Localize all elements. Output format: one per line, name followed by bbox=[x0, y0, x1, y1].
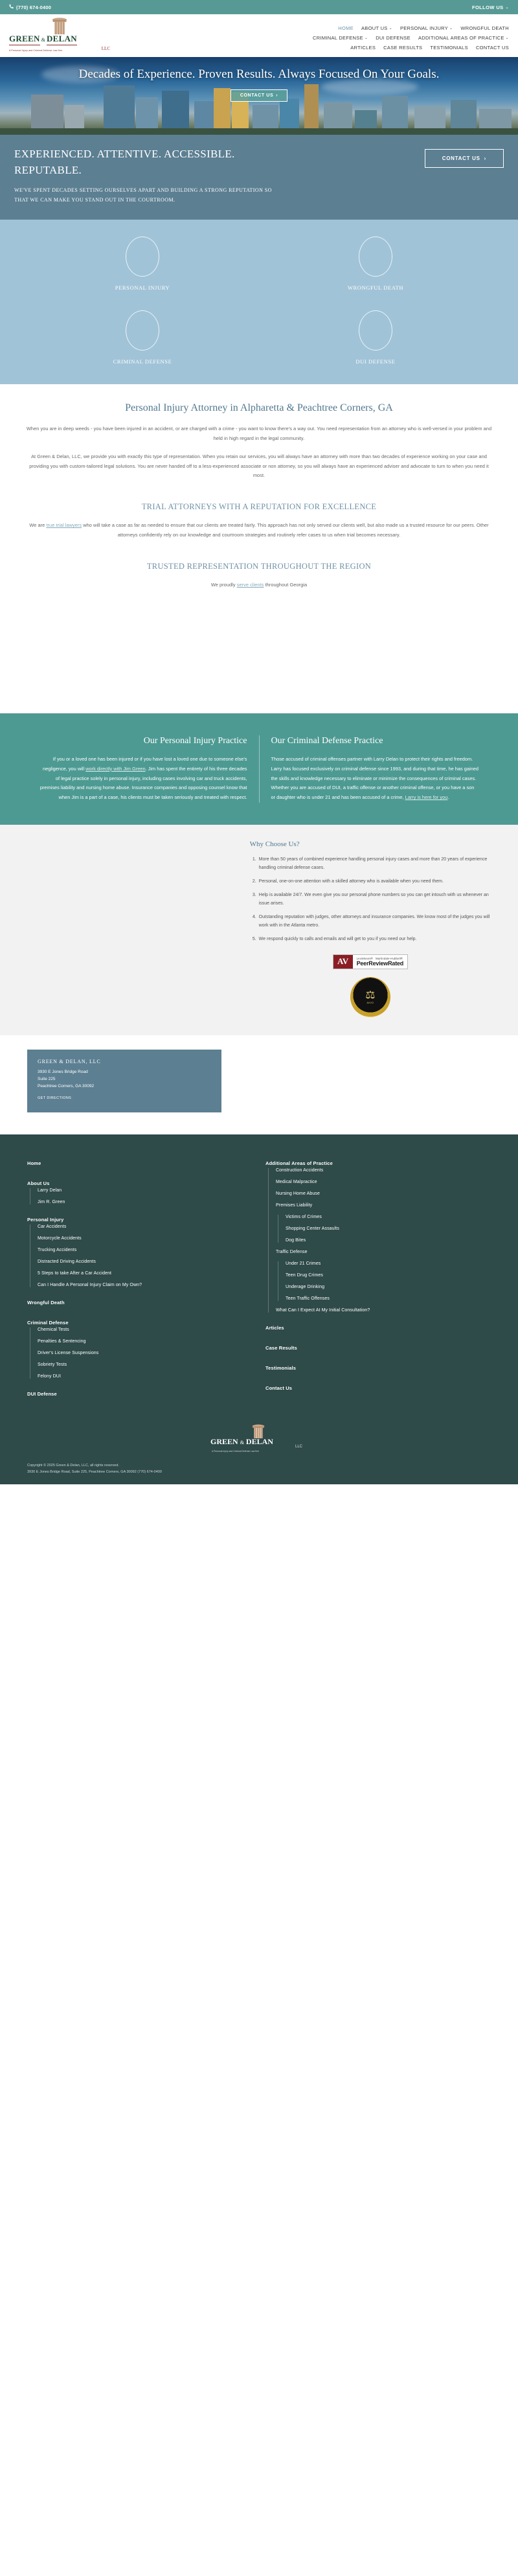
footer-group-additional-areas: Additional Areas of Practice Constructio… bbox=[265, 1156, 478, 1313]
why-choose-us-section: Why Choose Us? More than 50 years of com… bbox=[0, 825, 518, 1035]
logo-text-delan: DELAN bbox=[47, 34, 77, 45]
nav-item-home[interactable]: HOME bbox=[338, 25, 354, 31]
follow-us-menu[interactable]: FOLLOW US ⌄ bbox=[472, 5, 509, 10]
utility-topbar: (770) 674-0400 FOLLOW US ⌄ bbox=[0, 0, 518, 14]
footer-logo-amp: & bbox=[240, 1440, 244, 1445]
experienced-cta-label: CONTACT US bbox=[442, 155, 480, 161]
footer-link-about-us[interactable]: About Us bbox=[27, 1180, 50, 1186]
chevron-down-icon: ⌄ bbox=[449, 26, 453, 30]
scales-of-justice-icon: ⚖ bbox=[365, 989, 375, 1000]
nav-item-additional-areas[interactable]: ADDITIONAL AREAS OF PRACTICE⌄ bbox=[418, 35, 509, 41]
av-text-block: LexisNexis® Martindale-Hubbell® PeerRevi… bbox=[353, 955, 408, 969]
trial-attorneys-paragraph: We are true trial lawyers who will take … bbox=[26, 521, 492, 540]
personal-injury-practice-column: Our Personal Injury Practice If you or a… bbox=[27, 735, 260, 803]
experienced-text: EXPERIENCED. ATTENTIVE. ACCESSIBLE. REPU… bbox=[14, 146, 286, 205]
office-address-card: GREEN & DELAN, LLC 3930 E Jones Bridge R… bbox=[27, 1050, 221, 1112]
text-pre: Those accused of criminal offenses partn… bbox=[271, 756, 479, 800]
footer-link-distracted-driving[interactable]: Distracted Driving Accidents bbox=[38, 1259, 240, 1264]
section-heading-trusted-representation: TRUSTED REPRESENTATION THROUGHOUT THE RE… bbox=[26, 562, 492, 571]
footer-group-contact-us: Contact Us bbox=[265, 1381, 478, 1393]
footer-sublist: Car Accidents Motorcycle Accidents Truck… bbox=[30, 1225, 240, 1287]
footer-logo-tagline: A Personal Injury and Criminal Defense L… bbox=[212, 1450, 259, 1453]
footer-group-home: Home bbox=[27, 1156, 240, 1168]
footer-link-handle-claim-on-my-own[interactable]: Can I Handle A Personal Injury Claim on … bbox=[38, 1283, 240, 1287]
copyright-block: Copyright © 2025 Green & Delan, LLC, all… bbox=[0, 1463, 518, 1485]
logo-tagline: A Personal Injury and Criminal Defense L… bbox=[9, 49, 62, 52]
phone-icon bbox=[9, 4, 14, 10]
text-post: who will take a case as far as needed to… bbox=[82, 522, 489, 537]
logo-text-llc: LLC bbox=[102, 46, 110, 51]
footer-link-larry-delan[interactable]: Larry Delan bbox=[38, 1188, 240, 1193]
criminal-defense-practice-column: Our Criminal Defense Practice Those accu… bbox=[260, 735, 491, 803]
footer-sublist-premises: Victims of Crimes Shopping Center Assaul… bbox=[278, 1215, 478, 1243]
footer-sublist-traffic: Under 21 Crimes Teen Drug Crimes Underag… bbox=[278, 1261, 478, 1301]
nav-label: CONTACT US bbox=[476, 45, 509, 51]
trusted-representation-paragraph: We proudly serve clients throughout Geor… bbox=[26, 581, 492, 590]
footer-link-articles[interactable]: Articles bbox=[265, 1325, 284, 1331]
footer-logo-band: GREEN&DELAN LLC A Personal Injury and Cr… bbox=[0, 1424, 518, 1463]
footer-sublist: Larry Delan Jim R. Green bbox=[30, 1188, 240, 1204]
footer-group-personal-injury: Personal Injury Car Accidents Motorcycle… bbox=[27, 1213, 240, 1287]
footer-link-medical-malpractice[interactable]: Medical Malpractice bbox=[276, 1180, 478, 1184]
footer-link-criminal-defense[interactable]: Criminal Defense bbox=[27, 1320, 69, 1326]
nav-item-testimonials[interactable]: TESTIMONIALS bbox=[430, 45, 468, 51]
footer-link-jim-r-green[interactable]: Jim R. Green bbox=[38, 1200, 240, 1204]
list-item: More than 50 years of combined experienc… bbox=[258, 856, 491, 873]
follow-us-label: FOLLOW US bbox=[472, 5, 504, 10]
footer-link-felony-dui[interactable]: Felony DUI bbox=[38, 1374, 240, 1379]
chevron-down-icon: ⌄ bbox=[506, 5, 509, 10]
footer-link-motorcycle-accidents[interactable]: Motorcycle Accidents bbox=[38, 1236, 240, 1241]
footer-logo-llc: LLC bbox=[295, 1445, 302, 1449]
list-item: Outstanding reputation with judges, othe… bbox=[258, 914, 491, 930]
footer-link-5-steps-after-accident[interactable]: 5 Steps to take After a Car Accident bbox=[38, 1271, 240, 1276]
footer-link-sobriety-tests[interactable]: Sobriety Tests bbox=[38, 1363, 240, 1367]
copyright-line-1: Copyright © 2025 Green & Delan, LLC, all… bbox=[27, 1463, 491, 1469]
footer-link-car-accidents[interactable]: Car Accidents bbox=[38, 1225, 240, 1229]
nav-item-contact-us[interactable]: CONTACT US bbox=[476, 45, 509, 51]
nav-item-dui-defense[interactable]: DUI DEFENSE bbox=[376, 35, 411, 41]
address-line-2: Suite 225 bbox=[38, 1075, 211, 1083]
section-heading-trial-attorneys: TRIAL ATTORNEYS WITH A REPUTATION FOR EX… bbox=[26, 502, 492, 512]
experienced-body: WE'VE SPENT DECADES SETTING OURSELVES AP… bbox=[14, 186, 286, 205]
footer-group-dui-defense: DUI Defense bbox=[27, 1387, 240, 1399]
nav-label: ABOUT US bbox=[361, 25, 388, 31]
footer-sublist: Chemical Tests Penalties & Sentencing Dr… bbox=[30, 1328, 240, 1379]
nav-row-2: CRIMINAL DEFENSE⌄ DUI DEFENSE ADDITIONAL… bbox=[313, 35, 509, 41]
footer-column-right: Additional Areas of Practice Constructio… bbox=[253, 1156, 491, 1407]
chevron-right-icon: › bbox=[276, 93, 278, 98]
hero-content: Decades of Experience. Proven Results. A… bbox=[0, 57, 518, 135]
footer-link-case-results[interactable]: Case Results bbox=[265, 1345, 297, 1351]
footer-link-chemical-tests[interactable]: Chemical Tests bbox=[38, 1328, 240, 1332]
peer-review-rated-label: PeerReviewRated bbox=[357, 960, 404, 967]
footer-logo-green: GREEN bbox=[210, 1437, 238, 1446]
footer-link-wrongful-death[interactable]: Wrongful Death bbox=[27, 1300, 65, 1305]
practice-area-wrongful-death[interactable]: WRONGFUL DEATH bbox=[259, 236, 492, 291]
criminal-defense-practice-body: Those accused of criminal offenses partn… bbox=[271, 755, 480, 803]
practice-area-label: PERSONAL INJURY bbox=[115, 284, 170, 291]
footer-link-personal-injury[interactable]: Personal Injury bbox=[27, 1217, 63, 1223]
content-spacer bbox=[0, 616, 518, 713]
nav-item-criminal-defense[interactable]: CRIMINAL DEFENSE⌄ bbox=[313, 35, 368, 41]
experienced-contact-us-button[interactable]: CONTACT US › bbox=[425, 149, 504, 168]
footer-sublist: Construction Accidents Medical Malpracti… bbox=[268, 1168, 478, 1313]
link-work-with-jim-green[interactable]: work directly with Jim Green bbox=[85, 766, 145, 772]
nav-item-about-us[interactable]: ABOUT US⌄ bbox=[361, 25, 392, 31]
address-line-3: Peachtree Corners, GA 30092 bbox=[38, 1083, 211, 1090]
why-choose-us-title: Why Choose Us? bbox=[250, 840, 491, 848]
chevron-down-icon: ⌄ bbox=[506, 36, 509, 40]
site-logo[interactable]: GREEN&DELAN LLC A Personal Injury and Cr… bbox=[9, 17, 113, 53]
why-choose-us-list: More than 50 years of combined experienc… bbox=[258, 856, 491, 944]
nav-label: DUI DEFENSE bbox=[376, 35, 411, 41]
nav-item-case-results[interactable]: CASE RESULTS bbox=[383, 45, 422, 51]
personal-injury-practice-title: Our Personal Injury Practice bbox=[39, 735, 247, 747]
chevron-down-icon: ⌄ bbox=[389, 26, 392, 30]
nav-label: HOME bbox=[338, 25, 354, 31]
text-pre: We proudly bbox=[211, 582, 237, 588]
award-badges: AV LexisNexis® Martindale-Hubbell® PeerR… bbox=[250, 954, 491, 1017]
nav-label: TESTIMONIALS bbox=[430, 45, 468, 51]
main-navigation: HOME ABOUT US⌄ PERSONAL INJURY⌄ WRONGFUL… bbox=[113, 25, 509, 53]
circle-icon bbox=[359, 236, 392, 277]
nav-item-wrongful-death[interactable]: WRONGFUL DEATH bbox=[460, 25, 509, 31]
footer-link-dui-defense[interactable]: DUI Defense bbox=[27, 1391, 57, 1397]
link-true-trial-lawyers[interactable]: true trial lawyers bbox=[46, 522, 82, 528]
footer-column-left: Home About Us Larry Delan Jim R. Green P… bbox=[27, 1156, 253, 1407]
why-choose-us-body: Why Choose Us? More than 50 years of com… bbox=[250, 840, 491, 1017]
circle-icon bbox=[126, 236, 159, 277]
practice-area-label: WRONGFUL DEATH bbox=[348, 284, 403, 291]
phone-number: (770) 674-0400 bbox=[16, 5, 51, 10]
footer-group-criminal-defense: Criminal Defense Chemical Tests Penaltie… bbox=[27, 1316, 240, 1379]
practice-area-criminal-defense[interactable]: CRIMINAL DEFENSE bbox=[26, 310, 259, 365]
text-pre: We are bbox=[29, 522, 46, 528]
logo-text-green: GREEN bbox=[9, 34, 40, 45]
link-serve-clients[interactable]: serve clients bbox=[237, 582, 264, 588]
experienced-heading: EXPERIENCED. ATTENTIVE. ACCESSIBLE. REPU… bbox=[14, 146, 286, 178]
practice-columns-section: Our Personal Injury Practice If you or a… bbox=[0, 713, 518, 825]
practice-area-personal-injury[interactable]: PERSONAL INJURY bbox=[26, 236, 259, 291]
footer-link-penalties-sentencing[interactable]: Penalties & Sentencing bbox=[38, 1339, 240, 1344]
avvo-seal-badge: ⚖ AVVO bbox=[350, 977, 390, 1017]
nav-label: ADDITIONAL AREAS OF PRACTICE bbox=[418, 35, 504, 41]
practice-area-label: DUI DEFENSE bbox=[355, 358, 395, 365]
circle-icon bbox=[126, 310, 159, 351]
footer-navigation: Home About Us Larry Delan Jim R. Green P… bbox=[0, 1134, 518, 1424]
footer-group-case-results: Case Results bbox=[265, 1341, 478, 1353]
list-item: Personal, one-on-one attention with a sk… bbox=[258, 878, 491, 886]
criminal-defense-practice-title: Our Criminal Defense Practice bbox=[271, 735, 480, 747]
personal-injury-practice-body: If you or a loved one has been injured o… bbox=[39, 755, 247, 803]
chevron-down-icon: ⌄ bbox=[365, 36, 368, 40]
footer-link-construction-accidents[interactable]: Construction Accidents bbox=[276, 1168, 478, 1173]
practice-area-dui-defense[interactable]: DUI DEFENSE bbox=[259, 310, 492, 365]
nav-row-1: HOME ABOUT US⌄ PERSONAL INJURY⌄ WRONGFUL… bbox=[338, 25, 509, 31]
copyright-line-2: 3930 E Jones Bridge Road, Suite 225, Pea… bbox=[27, 1469, 491, 1476]
list-item: We respond quickly to calls and emails a… bbox=[258, 936, 491, 944]
get-directions-link[interactable]: GET DIRECTIONS bbox=[38, 1096, 71, 1100]
site-header: GREEN&DELAN LLC A Personal Injury and Cr… bbox=[0, 14, 518, 57]
footer-group-about-us: About Us Larry Delan Jim R. Green bbox=[27, 1177, 240, 1204]
footer-link-dog-bites[interactable]: Dog Bites bbox=[286, 1238, 478, 1243]
footer-link-trucking-accidents[interactable]: Trucking Accidents bbox=[38, 1248, 240, 1252]
footer-link-shopping-center-assaults[interactable]: Shopping Center Assaults bbox=[286, 1226, 478, 1231]
footer-logo[interactable]: GREEN&DELAN LLC A Personal Injury and Cr… bbox=[210, 1427, 308, 1453]
intro-paragraph-1: When you are in deep weeds - you have be… bbox=[26, 424, 492, 443]
hero-contact-us-button[interactable]: CONTACT US › bbox=[231, 89, 287, 102]
circle-icon bbox=[359, 310, 392, 351]
nav-label: WRONGFUL DEATH bbox=[460, 25, 509, 31]
text-post: throughout Georgia bbox=[264, 582, 307, 588]
list-item: Help is available 24/7. We even give you… bbox=[258, 891, 491, 908]
nav-row-3: ARTICLES CASE RESULTS TESTIMONIALS CONTA… bbox=[350, 45, 509, 51]
footer-group-articles: Articles bbox=[265, 1321, 478, 1333]
footer-link-traffic-defense[interactable]: Traffic Defense bbox=[276, 1250, 478, 1254]
footer-logo-delan: DELAN bbox=[246, 1437, 273, 1446]
nav-label: CRIMINAL DEFENSE bbox=[313, 35, 363, 41]
footer-link-victims-of-crimes[interactable]: Victims of Crimes bbox=[286, 1215, 478, 1219]
experienced-section: EXPERIENCED. ATTENTIVE. ACCESSIBLE. REPU… bbox=[0, 135, 518, 220]
phone-link[interactable]: (770) 674-0400 bbox=[9, 4, 51, 10]
avvo-seal-text: AVVO bbox=[366, 1002, 374, 1004]
why-gutter bbox=[27, 840, 250, 1017]
main-content: Personal Injury Attorney in Alpharetta &… bbox=[0, 384, 518, 616]
footer-group-testimonials: Testimonials bbox=[265, 1361, 478, 1373]
chevron-right-icon: › bbox=[484, 155, 486, 161]
footer-link-under-21-crimes[interactable]: Under 21 Crimes bbox=[286, 1261, 478, 1266]
footer-link-underage-drinking[interactable]: Underage Drinking bbox=[286, 1285, 478, 1289]
footer-link-contact-us[interactable]: Contact Us bbox=[265, 1385, 292, 1391]
nav-label: CASE RESULTS bbox=[383, 45, 422, 51]
logo-text-amp: & bbox=[41, 37, 45, 43]
nav-item-personal-injury[interactable]: PERSONAL INJURY⌄ bbox=[400, 25, 453, 31]
hero-cta-label: CONTACT US bbox=[240, 93, 273, 98]
footer-link-license-suspensions[interactable]: Driver's License Suspensions bbox=[38, 1351, 240, 1355]
practice-area-label: CRIMINAL DEFENSE bbox=[113, 358, 172, 365]
footer-link-nursing-home-abuse[interactable]: Nursing Home Abuse bbox=[276, 1191, 478, 1196]
firm-name: GREEN & DELAN, LLC bbox=[38, 1059, 211, 1064]
footer-link-premises-liability[interactable]: Premises Liability bbox=[276, 1203, 478, 1208]
practice-areas-grid: PERSONAL INJURY WRONGFUL DEATH CRIMINAL … bbox=[0, 220, 518, 384]
footer-link-additional-areas[interactable]: Additional Areas of Practice bbox=[265, 1160, 333, 1166]
footer-link-teen-drug-crimes[interactable]: Teen Drug Crimes bbox=[286, 1273, 478, 1278]
page-title: Personal Injury Attorney in Alpharetta &… bbox=[26, 401, 492, 415]
intro-paragraph-2: At Green & Delan, LLC, we provide you wi… bbox=[26, 452, 492, 480]
footer-link-home[interactable]: Home bbox=[27, 1160, 41, 1166]
av-peer-review-rated-badge: AV LexisNexis® Martindale-Hubbell® PeerR… bbox=[333, 954, 409, 969]
nav-item-articles[interactable]: ARTICLES bbox=[350, 45, 376, 51]
footer-link-initial-consultation[interactable]: What Can I Expect At My Initial Consulta… bbox=[276, 1308, 478, 1313]
nav-label: ARTICLES bbox=[350, 45, 376, 51]
hero-banner: Decades of Experience. Proven Results. A… bbox=[0, 57, 518, 135]
text-post: . bbox=[447, 794, 449, 800]
nav-label: PERSONAL INJURY bbox=[400, 25, 448, 31]
address-section: GREEN & DELAN, LLC 3930 E Jones Bridge R… bbox=[0, 1035, 518, 1134]
link-larry-is-here-for-you[interactable]: Larry is here for you bbox=[405, 794, 448, 800]
address-line-1: 3930 E Jones Bridge Road bbox=[38, 1068, 211, 1075]
footer-group-wrongful-death: Wrongful Death bbox=[27, 1296, 240, 1307]
footer-link-testimonials[interactable]: Testimonials bbox=[265, 1365, 296, 1371]
hero-headline: Decades of Experience. Proven Results. A… bbox=[79, 66, 440, 83]
footer-link-teen-traffic-offenses[interactable]: Teen Traffic Offenses bbox=[286, 1296, 478, 1301]
av-letters: AV bbox=[333, 955, 353, 969]
